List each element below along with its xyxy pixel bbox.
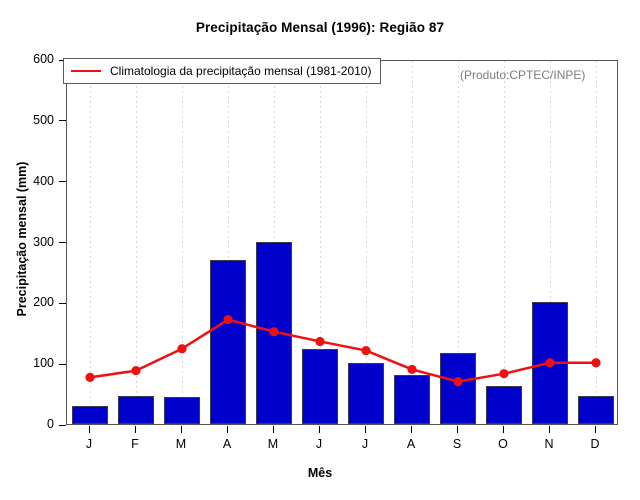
- climatology-line-series: [67, 61, 617, 424]
- x-tick-j-6: [365, 426, 366, 433]
- y-tick-label-400: 400: [10, 174, 54, 188]
- plot-inner: [67, 61, 617, 424]
- climatology-marker-s-8: [453, 377, 462, 386]
- climatology-marker-a-7: [407, 365, 416, 374]
- x-tick-m-2: [181, 426, 182, 433]
- x-tick-label-a-3: A: [207, 437, 247, 451]
- x-tick-a-3: [227, 426, 228, 433]
- precipitation-chart-figure: Precipitação Mensal (1996): Região 87 Pr…: [0, 0, 640, 500]
- chart-title: Precipitação Mensal (1996): Região 87: [0, 20, 640, 35]
- x-tick-label-m-2: M: [161, 437, 201, 451]
- plot-area: [66, 60, 618, 425]
- y-tick-label-600: 600: [10, 52, 54, 66]
- x-tick-j-0: [89, 426, 90, 433]
- x-axis-title: Mês: [0, 466, 640, 480]
- climatology-marker-n-10: [545, 358, 554, 367]
- y-tick-label-100: 100: [10, 356, 54, 370]
- y-tick-300: [59, 242, 66, 243]
- legend-label: Climatologia da precipitação mensal (198…: [110, 64, 371, 78]
- x-tick-label-o-9: O: [483, 437, 523, 451]
- x-tick-m-4: [273, 426, 274, 433]
- x-tick-label-m-4: M: [253, 437, 293, 451]
- x-tick-label-j-6: J: [345, 437, 385, 451]
- x-tick-f-1: [135, 426, 136, 433]
- climatology-markers: [85, 315, 600, 386]
- produto-annotation: (Produto:CPTEC/INPE): [460, 68, 585, 82]
- climatology-marker-m-2: [177, 344, 186, 353]
- x-tick-label-j-0: J: [69, 437, 109, 451]
- x-tick-label-j-5: J: [299, 437, 339, 451]
- x-tick-label-d-11: D: [575, 437, 615, 451]
- y-tick-100: [59, 364, 66, 365]
- y-tick-label-300: 300: [10, 235, 54, 249]
- legend-line-swatch: [71, 70, 101, 72]
- x-tick-o-9: [503, 426, 504, 433]
- x-tick-label-f-1: F: [115, 437, 155, 451]
- x-tick-label-s-8: S: [437, 437, 477, 451]
- y-tick-400: [59, 181, 66, 182]
- climatology-marker-m-4: [269, 327, 278, 336]
- y-tick-200: [59, 303, 66, 304]
- y-tick-label-200: 200: [10, 295, 54, 309]
- y-tick-label-500: 500: [10, 113, 54, 127]
- x-tick-label-a-7: A: [391, 437, 431, 451]
- x-tick-s-8: [457, 426, 458, 433]
- climatology-marker-f-1: [131, 366, 140, 375]
- y-tick-0: [59, 425, 66, 426]
- climatology-marker-a-3: [223, 315, 232, 324]
- x-tick-a-7: [411, 426, 412, 433]
- x-tick-d-11: [595, 426, 596, 433]
- climatology-polyline: [90, 320, 596, 382]
- climatology-marker-o-9: [499, 369, 508, 378]
- y-tick-500: [59, 120, 66, 121]
- climatology-marker-j-0: [85, 373, 94, 382]
- y-tick-label-0: 0: [10, 417, 54, 431]
- x-tick-j-5: [319, 426, 320, 433]
- x-tick-n-10: [549, 426, 550, 433]
- climatology-marker-j-6: [361, 346, 370, 355]
- climatology-marker-d-11: [591, 358, 600, 367]
- climatology-marker-j-5: [315, 337, 324, 346]
- x-tick-label-n-10: N: [529, 437, 569, 451]
- legend: Climatologia da precipitação mensal (198…: [63, 58, 381, 84]
